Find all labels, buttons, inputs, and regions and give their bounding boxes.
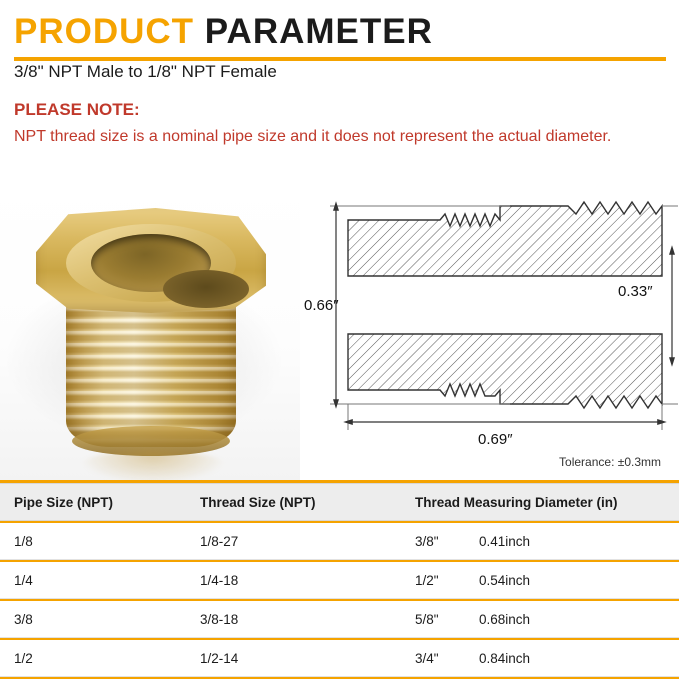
brass-bushing-image bbox=[30, 200, 270, 450]
spec-table: Pipe Size (NPT) Thread Size (NPT) Thread… bbox=[0, 480, 679, 679]
cell-measuring-fraction: 3/8" bbox=[415, 534, 479, 549]
cell-pipe-size: 3/8 bbox=[0, 612, 200, 627]
dim-left-group: 0.66″ bbox=[304, 206, 339, 404]
table-row: 1/2 1/2-14 3/4"0.84inch bbox=[0, 640, 679, 677]
cell-measuring-fraction: 1/2" bbox=[415, 573, 479, 588]
cell-measuring-fraction: 3/4" bbox=[415, 651, 479, 666]
cell-measuring-fraction: 5/8" bbox=[415, 612, 479, 627]
title-block: PRODUCT PARAMETER bbox=[14, 12, 666, 52]
page-title: PRODUCT PARAMETER bbox=[14, 12, 666, 52]
table-header-row: Pipe Size (NPT) Thread Size (NPT) Thread… bbox=[0, 483, 679, 521]
product-photo bbox=[0, 180, 300, 480]
cell-measuring-diameter: 3/8"0.41inch bbox=[415, 534, 679, 549]
title-underline bbox=[14, 57, 666, 61]
cell-pipe-size: 1/2 bbox=[0, 651, 200, 666]
cell-thread-size: 1/4-18 bbox=[200, 573, 415, 588]
dimension-drawing-svg: 0.66″ 0.33″ 0.69″ bbox=[300, 190, 679, 450]
title-word-parameter: PARAMETER bbox=[205, 12, 433, 51]
surface-reflection bbox=[78, 450, 228, 480]
dim-bottom-group: 0.69″ bbox=[348, 422, 662, 448]
table-row: 1/4 1/4-18 1/2"0.54inch bbox=[0, 562, 679, 599]
dim-bottom-label: 0.69″ bbox=[478, 431, 513, 448]
hex-head bbox=[36, 208, 266, 313]
column-header-thread-size: Thread Size (NPT) bbox=[200, 495, 415, 510]
cell-thread-size: 1/2-14 bbox=[200, 651, 415, 666]
upper-body-profile bbox=[348, 202, 662, 276]
dimension-drawing: 0.66″ 0.33″ 0.69″ bbox=[300, 190, 679, 450]
table-row: 1/8 1/8-27 3/8"0.41inch bbox=[0, 523, 679, 560]
product-subtitle: 3/8" NPT Male to 1/8" NPT Female bbox=[14, 62, 277, 82]
cell-measuring-diameter: 5/8"0.68inch bbox=[415, 612, 679, 627]
cell-measuring-decimal: 0.41inch bbox=[479, 534, 530, 549]
cell-pipe-size: 1/4 bbox=[0, 573, 200, 588]
cell-thread-size: 3/8-18 bbox=[200, 612, 415, 627]
lower-body-profile bbox=[348, 334, 662, 408]
cell-measuring-decimal: 0.68inch bbox=[479, 612, 530, 627]
tolerance-note: Tolerance: ±0.3mm bbox=[559, 455, 661, 469]
column-header-pipe-size: Pipe Size (NPT) bbox=[0, 495, 200, 510]
dim-left-label: 0.66″ bbox=[304, 297, 339, 314]
title-word-product: PRODUCT bbox=[14, 12, 194, 51]
table-row: 3/8 3/8-18 5/8"0.68inch bbox=[0, 601, 679, 638]
column-header-measuring-diameter: Thread Measuring Diameter (in) bbox=[415, 495, 679, 510]
cell-measuring-diameter: 1/2"0.54inch bbox=[415, 573, 679, 588]
dim-right-label: 0.33″ bbox=[618, 283, 653, 300]
cell-pipe-size: 1/8 bbox=[0, 534, 200, 549]
threaded-barrel bbox=[66, 295, 236, 447]
cell-measuring-decimal: 0.54inch bbox=[479, 573, 530, 588]
female-thread-bore bbox=[91, 234, 211, 292]
cell-measuring-decimal: 0.84inch bbox=[479, 651, 530, 666]
product-parameter-page: PRODUCT PARAMETER 3/8" NPT Male to 1/8" … bbox=[0, 0, 679, 679]
bore-inner bbox=[163, 270, 249, 308]
note-body: NPT thread size is a nominal pipe size a… bbox=[14, 126, 654, 148]
cell-thread-size: 1/8-27 bbox=[200, 534, 415, 549]
cell-measuring-diameter: 3/4"0.84inch bbox=[415, 651, 679, 666]
note-heading: PLEASE NOTE: bbox=[14, 100, 140, 120]
